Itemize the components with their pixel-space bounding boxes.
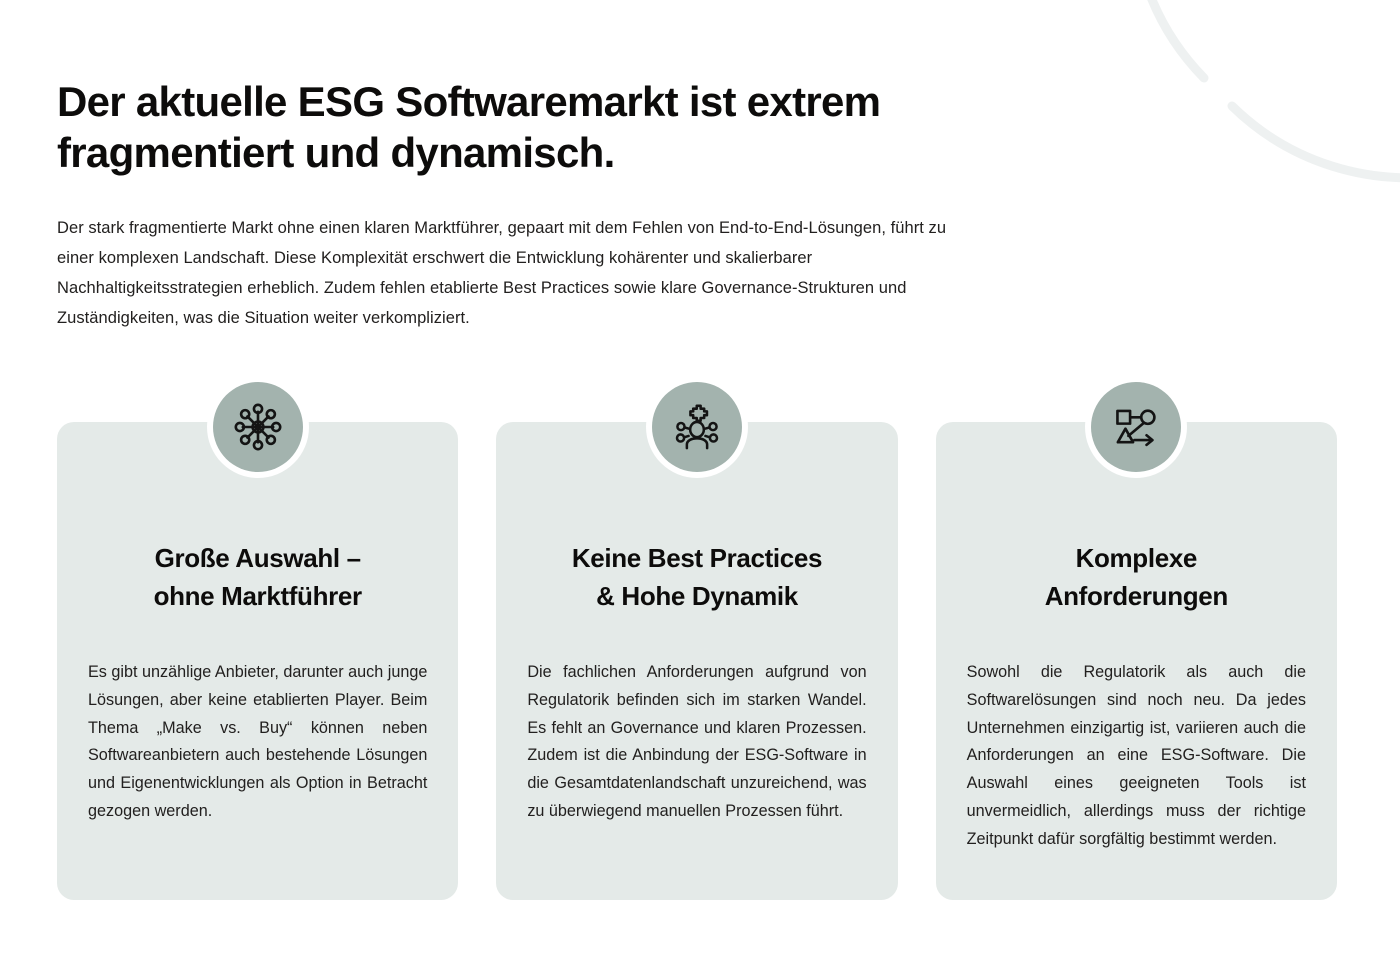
shapes-workflow-arrows-icon <box>1091 382 1181 472</box>
card-icon-medallion <box>207 376 309 478</box>
feature-card: Große Auswahl – ohne Marktführer Es gibt… <box>57 422 458 900</box>
feature-card: Komplexe Anforderungen Sowohl die Regula… <box>936 422 1337 900</box>
card-icon-medallion <box>646 376 748 478</box>
feature-cards-row: Große Auswahl – ohne Marktführer Es gibt… <box>57 422 1337 900</box>
card-body: Die fachlichen Anforderungen aufgrund vo… <box>522 659 871 826</box>
card-body: Es gibt unzählige Anbieter, darunter auc… <box>83 659 432 826</box>
network-hub-icon <box>213 382 303 472</box>
card-icon-medallion <box>1085 376 1187 478</box>
card-title: Große Auswahl – ohne Marktführer <box>83 540 432 616</box>
card-title: Keine Best Practices & Hohe Dynamik <box>522 540 871 616</box>
page-title: Der aktuelle ESG Softwaremarkt ist extre… <box>57 76 957 178</box>
person-gear-network-icon <box>652 382 742 472</box>
card-body: Sowohl die Regulatorik als auch die Soft… <box>962 659 1311 854</box>
intro-paragraph: Der stark fragmentierte Markt ohne einen… <box>57 213 957 333</box>
card-title: Komplexe Anforderungen <box>962 540 1311 616</box>
feature-card: Keine Best Practices & Hohe Dynamik Die … <box>496 422 897 900</box>
slide-root: Der aktuelle ESG Softwaremarkt ist extre… <box>0 0 1400 964</box>
